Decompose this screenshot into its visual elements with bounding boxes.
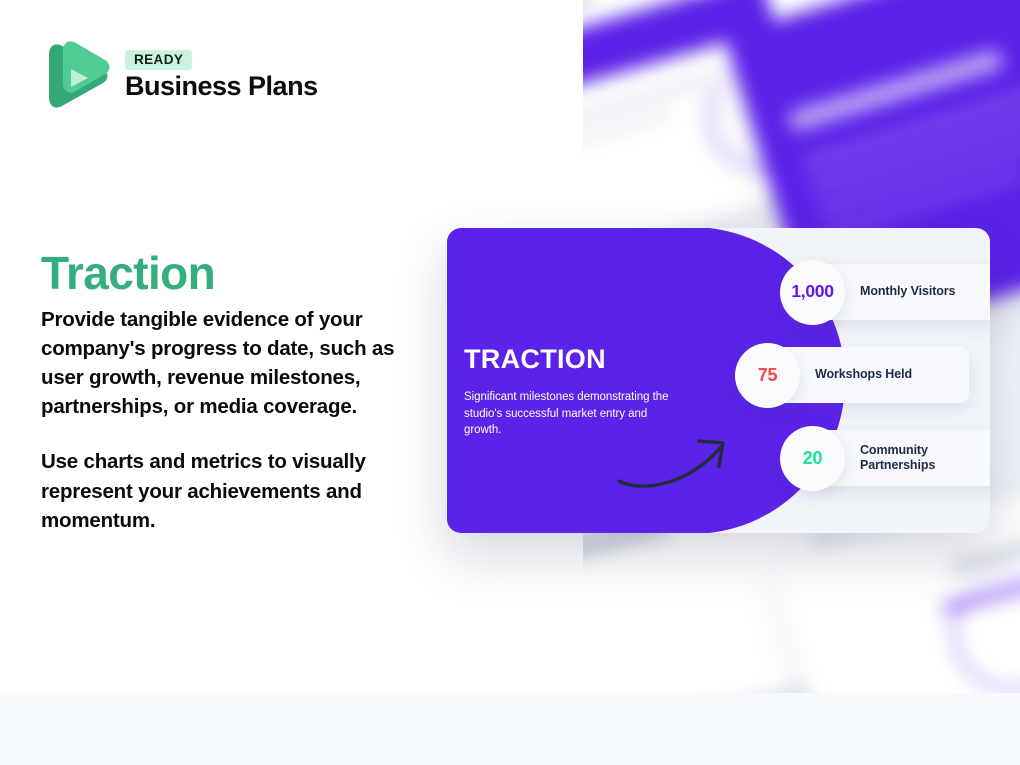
metric-circle: 75 (735, 343, 800, 408)
metric-row[interactable]: 75 Workshops Held (735, 343, 912, 407)
metric-label: Community Partnerships (860, 443, 990, 474)
metric-value: 75 (758, 366, 777, 384)
traction-slide-card[interactable]: TRACTION Significant milestones demonstr… (447, 228, 990, 533)
brand-lockup: READY Business Plans (41, 38, 318, 114)
page-title: Traction (41, 250, 215, 296)
slide-preview-page: READY Business Plans Traction Provide ta… (0, 0, 1020, 765)
brand-text-block: READY Business Plans (125, 50, 318, 102)
background-bar (787, 49, 1003, 132)
metric-label: Monthly Visitors (860, 284, 955, 299)
description-block: Provide tangible evidence of your compan… (41, 305, 416, 535)
metric-row[interactable]: 1,000 Monthly Visitors (780, 260, 955, 324)
background-ring-chart (937, 557, 1020, 693)
metric-label: Workshops Held (815, 367, 912, 382)
metric-value: 20 (803, 449, 822, 467)
ready-badge: READY (125, 50, 192, 71)
background-bar (583, 108, 673, 170)
metric-row[interactable]: 20 Community Partnerships (780, 426, 990, 490)
play-logo-icon (41, 38, 111, 114)
slide-title: TRACTION (464, 346, 674, 373)
metric-circle: 1,000 (780, 260, 845, 325)
brand-title: Business Plans (125, 72, 318, 102)
description-paragraph-2: Use charts and metrics to visually repre… (41, 447, 416, 534)
footer-band (0, 693, 1020, 765)
metric-circle: 20 (780, 426, 845, 491)
metrics-list: 1,000 Monthly Visitors 75 Workshops Held… (702, 252, 990, 514)
metric-value: 1,000 (791, 283, 833, 301)
description-paragraph-1: Provide tangible evidence of your compan… (41, 305, 416, 421)
